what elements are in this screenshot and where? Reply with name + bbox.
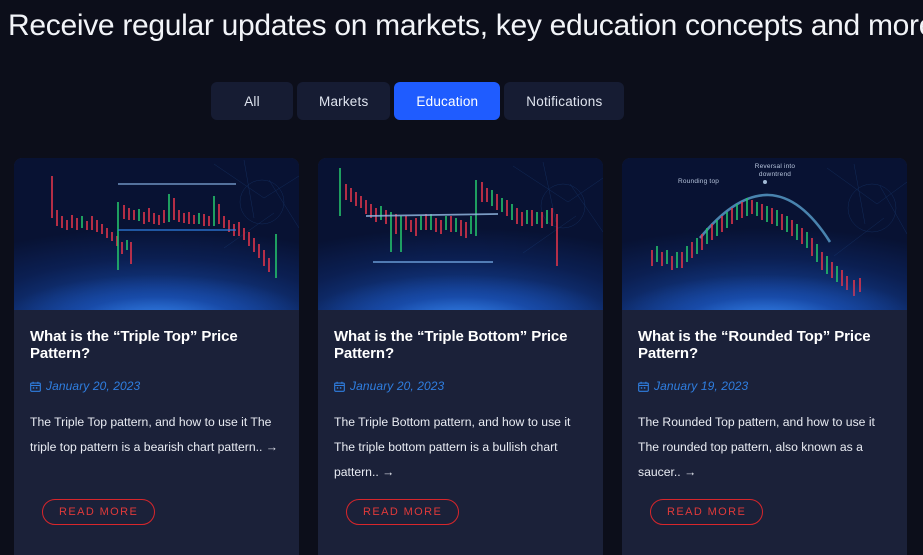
candlestick-chart-graphic (622, 158, 907, 310)
card-title: What is the “Triple Bottom” Price Patter… (334, 328, 584, 362)
page-title: Receive regular updates on markets, key … (8, 6, 923, 46)
card-excerpt: The Triple Bottom pattern, and how to us… (334, 410, 587, 485)
category-tab-bar: All Markets Education Notifications (211, 82, 624, 120)
chart-thumbnail-triple-top (14, 158, 299, 310)
card-title: What is the “Rounded Top” Price Pattern? (638, 328, 888, 362)
card-body: What is the “Triple Top” Price Pattern? … (14, 310, 299, 460)
calendar-icon (30, 381, 41, 392)
read-more-button[interactable]: READ MORE (42, 499, 155, 525)
article-card[interactable]: Rounding top Reversal into downtrend Wha… (622, 158, 907, 555)
card-date: January 20, 2023 (350, 379, 444, 393)
candlestick-chart-graphic (318, 158, 603, 310)
card-date-row: January 20, 2023 (30, 379, 283, 393)
card-date-row: January 19, 2023 (638, 379, 891, 393)
tab-notifications[interactable]: Notifications (504, 82, 624, 120)
article-card[interactable]: What is the “Triple Top” Price Pattern? … (14, 158, 299, 555)
tab-education[interactable]: Education (394, 82, 500, 120)
read-more-button[interactable]: READ MORE (650, 499, 763, 525)
card-excerpt: The Triple Top pattern, and how to use i… (30, 410, 283, 460)
article-card[interactable]: What is the “Triple Bottom” Price Patter… (318, 158, 603, 555)
calendar-icon (334, 381, 345, 392)
article-card-grid: What is the “Triple Top” Price Pattern? … (14, 158, 909, 555)
read-more-button[interactable]: READ MORE (346, 499, 459, 525)
candlestick-chart-graphic (14, 158, 299, 310)
card-title: What is the “Triple Top” Price Pattern? (30, 328, 280, 362)
tab-all[interactable]: All (211, 82, 293, 120)
chart-thumbnail-rounded-top: Rounding top Reversal into downtrend (622, 158, 907, 310)
calendar-icon (638, 381, 649, 392)
card-date: January 20, 2023 (46, 379, 140, 393)
card-body: What is the “Rounded Top” Price Pattern?… (622, 310, 907, 485)
chart-thumbnail-triple-bottom (318, 158, 603, 310)
card-body: What is the “Triple Bottom” Price Patter… (318, 310, 603, 485)
card-date: January 19, 2023 (654, 379, 748, 393)
card-excerpt: The Rounded Top pattern, and how to use … (638, 410, 891, 485)
tab-markets[interactable]: Markets (297, 82, 390, 120)
card-date-row: January 20, 2023 (334, 379, 587, 393)
